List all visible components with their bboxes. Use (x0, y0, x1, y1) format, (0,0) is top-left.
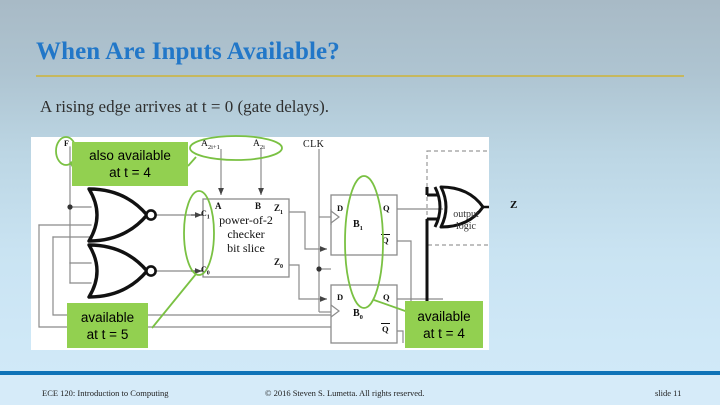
label-ff1-q: Q (383, 203, 390, 213)
callout-also-available: also available at t = 4 (72, 142, 188, 186)
checker-line-2: checker (204, 227, 288, 241)
label-output-z: Z (510, 199, 517, 211)
nor-gate-bottom (89, 245, 156, 297)
label-signal-f: F (64, 139, 69, 148)
page-title: When Are Inputs Available? (36, 38, 340, 66)
callout-t4-line-2: at t = 4 (423, 325, 465, 342)
label-checker-in-b: B (255, 201, 261, 211)
callout-t5-line-1: available (81, 309, 134, 326)
callout-available-t5: available at t = 5 (67, 303, 148, 348)
nor-gate-top (89, 189, 156, 241)
label-ff0-qbar: Q (381, 323, 390, 335)
checker-line-1: power-of-2 (204, 213, 288, 227)
callout-also-line-2: at t = 4 (109, 164, 151, 181)
label-ff1-d: D (337, 203, 343, 213)
callout-t4-line-1: available (417, 308, 470, 325)
label-ff0-q: Q (383, 292, 390, 302)
label-ff0-name: B0 (353, 308, 363, 321)
label-checker-out-z0: Z0 (274, 257, 283, 270)
title-divider (36, 75, 684, 77)
label-ff0-d: D (337, 292, 343, 302)
body-text: A rising edge arrives at t = 0 (gate del… (40, 97, 329, 117)
label-input-a-low: A2i (253, 139, 265, 151)
slide-canvas: When Are Inputs Available? A rising edge… (0, 0, 720, 405)
output-logic-line-1: output (435, 209, 497, 221)
footer-slide-number: slide 11 (655, 388, 681, 398)
callout-also-line-1: also available (89, 147, 171, 164)
footer-course: ECE 120: Introduction to Computing (42, 388, 169, 398)
label-checker-name: power-of-2 checker bit slice (204, 213, 288, 255)
callout-t5-line-2: at t = 5 (87, 326, 129, 343)
label-carry-c0: C0 (201, 265, 210, 277)
footer-copyright: © 2016 Steven S. Lumetta. All rights res… (265, 388, 424, 398)
label-checker-in-a: A (215, 201, 222, 211)
checker-line-3: bit slice (204, 241, 288, 255)
label-ff1-name: B1 (353, 219, 363, 232)
output-logic-line-2: logic (435, 221, 497, 233)
label-output-logic: output logic (435, 209, 497, 233)
junction-dot (67, 204, 72, 209)
label-ff1-qbar: Q (381, 234, 390, 246)
clock-junction-dot (316, 266, 321, 271)
callout-available-t4: available at t = 4 (405, 301, 483, 348)
label-input-a-high: A2i+1 (201, 139, 220, 151)
label-clock: CLK (303, 139, 324, 150)
